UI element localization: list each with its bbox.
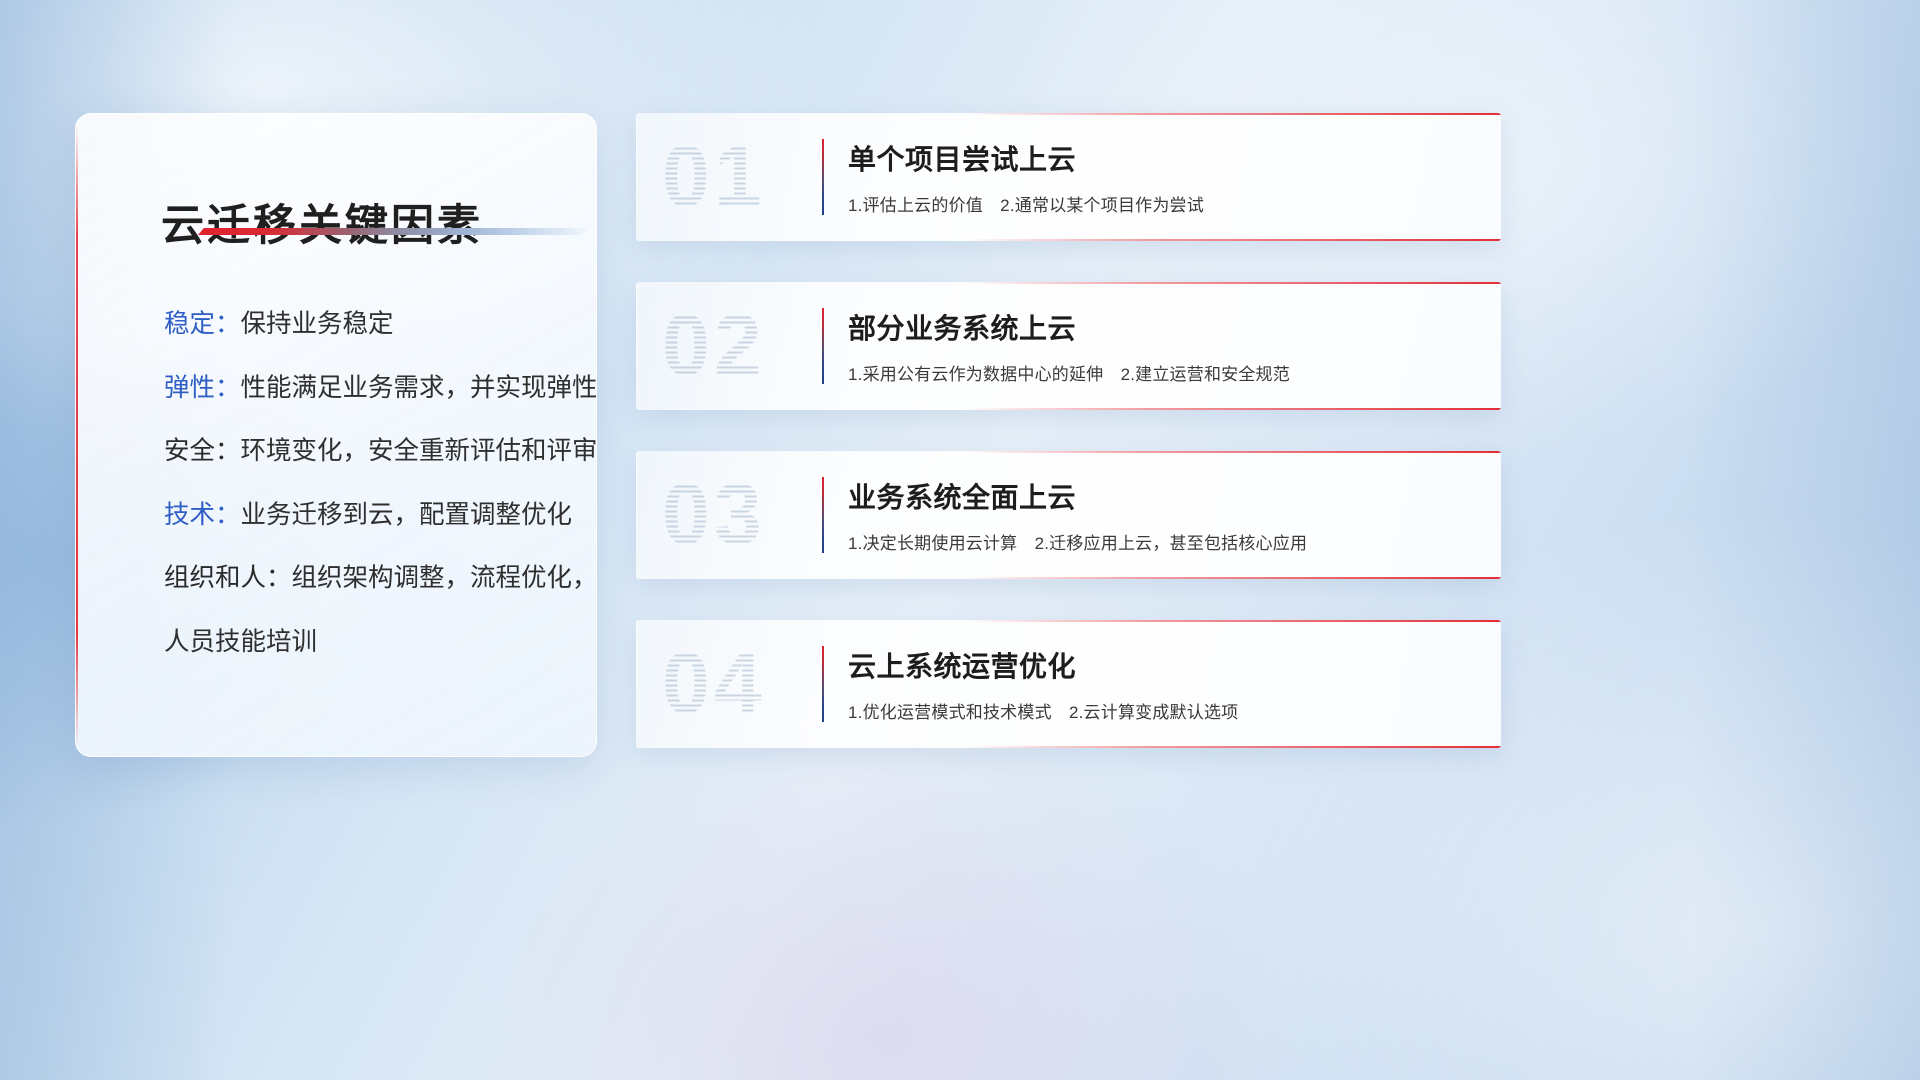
card-left-edge xyxy=(636,620,637,748)
list-item: 技术：业务迁移到云，配置调整优化 xyxy=(164,503,570,529)
stage-number: 02 xyxy=(662,297,766,396)
factor-value: 保持业务稳定 xyxy=(241,310,394,338)
factor-value: 组织架构调整，流程优化， xyxy=(292,564,597,592)
stage-card[interactable]: 04 云上系统运营优化 1.优化运营模式和技术模式 2.云计算变成默认选项 xyxy=(636,620,1501,748)
title-gradient-rule xyxy=(198,228,588,235)
stage-card[interactable]: 03 业务系统全面上云 1.决定长期使用云计算 2.迁移应用上云，甚至包括核心应… xyxy=(636,451,1501,579)
card-divider-bar xyxy=(822,139,824,215)
list-item: 稳定：保持业务稳定 xyxy=(164,312,570,338)
card-divider-bar xyxy=(822,477,824,553)
card-left-edge xyxy=(636,282,637,410)
factor-label: 安全： xyxy=(164,437,241,465)
stage-title: 云上系统运营优化 xyxy=(848,645,1481,685)
stage-card-list: 01 单个项目尝试上云 1.评估上云的价值 2.通常以某个项目作为尝试 02 部… xyxy=(636,113,1501,748)
key-factors-list: 稳定：保持业务稳定 弹性：性能满足业务需求，并实现弹性 安全：环境变化，安全重新… xyxy=(164,312,570,655)
factor-value: 环境变化，安全重新评估和评审 xyxy=(241,437,597,465)
stage-subtitle: 1.决定长期使用云计算 2.迁移应用上云，甚至包括核心应用 xyxy=(848,529,1481,554)
stage-card[interactable]: 02 部分业务系统上云 1.采用公有云作为数据中心的延伸 2.建立运营和安全规范 xyxy=(636,282,1501,410)
factor-value: 业务迁移到云，配置调整优化 xyxy=(241,501,573,529)
stage-title: 单个项目尝试上云 xyxy=(848,138,1481,178)
list-item: 人员技能培训 xyxy=(164,630,570,656)
stage-subtitle: 1.评估上云的价值 2.通常以某个项目作为尝试 xyxy=(848,191,1481,216)
factor-label: 弹性： xyxy=(164,374,241,402)
card-content: 部分业务系统上云 1.采用公有云作为数据中心的延伸 2.建立运营和安全规范 xyxy=(848,282,1481,410)
stage-subtitle: 1.采用公有云作为数据中心的延伸 2.建立运营和安全规范 xyxy=(848,360,1481,385)
factor-label: 组织和人： xyxy=(164,564,292,592)
page-title: 云迁移关键因素 xyxy=(161,191,483,253)
panel-red-edge-accent xyxy=(76,124,78,746)
factor-value: 性能满足业务需求，并实现弹性 xyxy=(241,374,597,402)
card-left-edge xyxy=(636,451,637,579)
card-divider-bar xyxy=(822,646,824,722)
key-factors-panel: 云迁移关键因素 稳定：保持业务稳定 弹性：性能满足业务需求，并实现弹性 安全：环… xyxy=(75,113,597,757)
stage-number: 03 xyxy=(662,466,766,565)
stage-title: 部分业务系统上云 xyxy=(848,307,1481,347)
stage-subtitle: 1.优化运营模式和技术模式 2.云计算变成默认选项 xyxy=(848,698,1481,723)
factor-label: 技术： xyxy=(164,501,241,529)
stage-title: 业务系统全面上云 xyxy=(848,476,1481,516)
list-item: 组织和人：组织架构调整，流程优化， xyxy=(164,566,570,592)
card-content: 单个项目尝试上云 1.评估上云的价值 2.通常以某个项目作为尝试 xyxy=(848,113,1481,241)
card-left-edge xyxy=(636,113,637,241)
card-content: 业务系统全面上云 1.决定长期使用云计算 2.迁移应用上云，甚至包括核心应用 xyxy=(848,451,1481,579)
list-item: 弹性：性能满足业务需求，并实现弹性 xyxy=(164,376,570,402)
factor-value: 人员技能培训 xyxy=(164,628,317,656)
list-item: 安全：环境变化，安全重新评估和评审 xyxy=(164,439,570,465)
stage-number: 04 xyxy=(662,635,766,734)
stage-card[interactable]: 01 单个项目尝试上云 1.评估上云的价值 2.通常以某个项目作为尝试 xyxy=(636,113,1501,241)
factor-label: 稳定： xyxy=(164,310,241,338)
card-divider-bar xyxy=(822,308,824,384)
card-content: 云上系统运营优化 1.优化运营模式和技术模式 2.云计算变成默认选项 xyxy=(848,620,1481,748)
stage-number: 01 xyxy=(662,128,766,227)
